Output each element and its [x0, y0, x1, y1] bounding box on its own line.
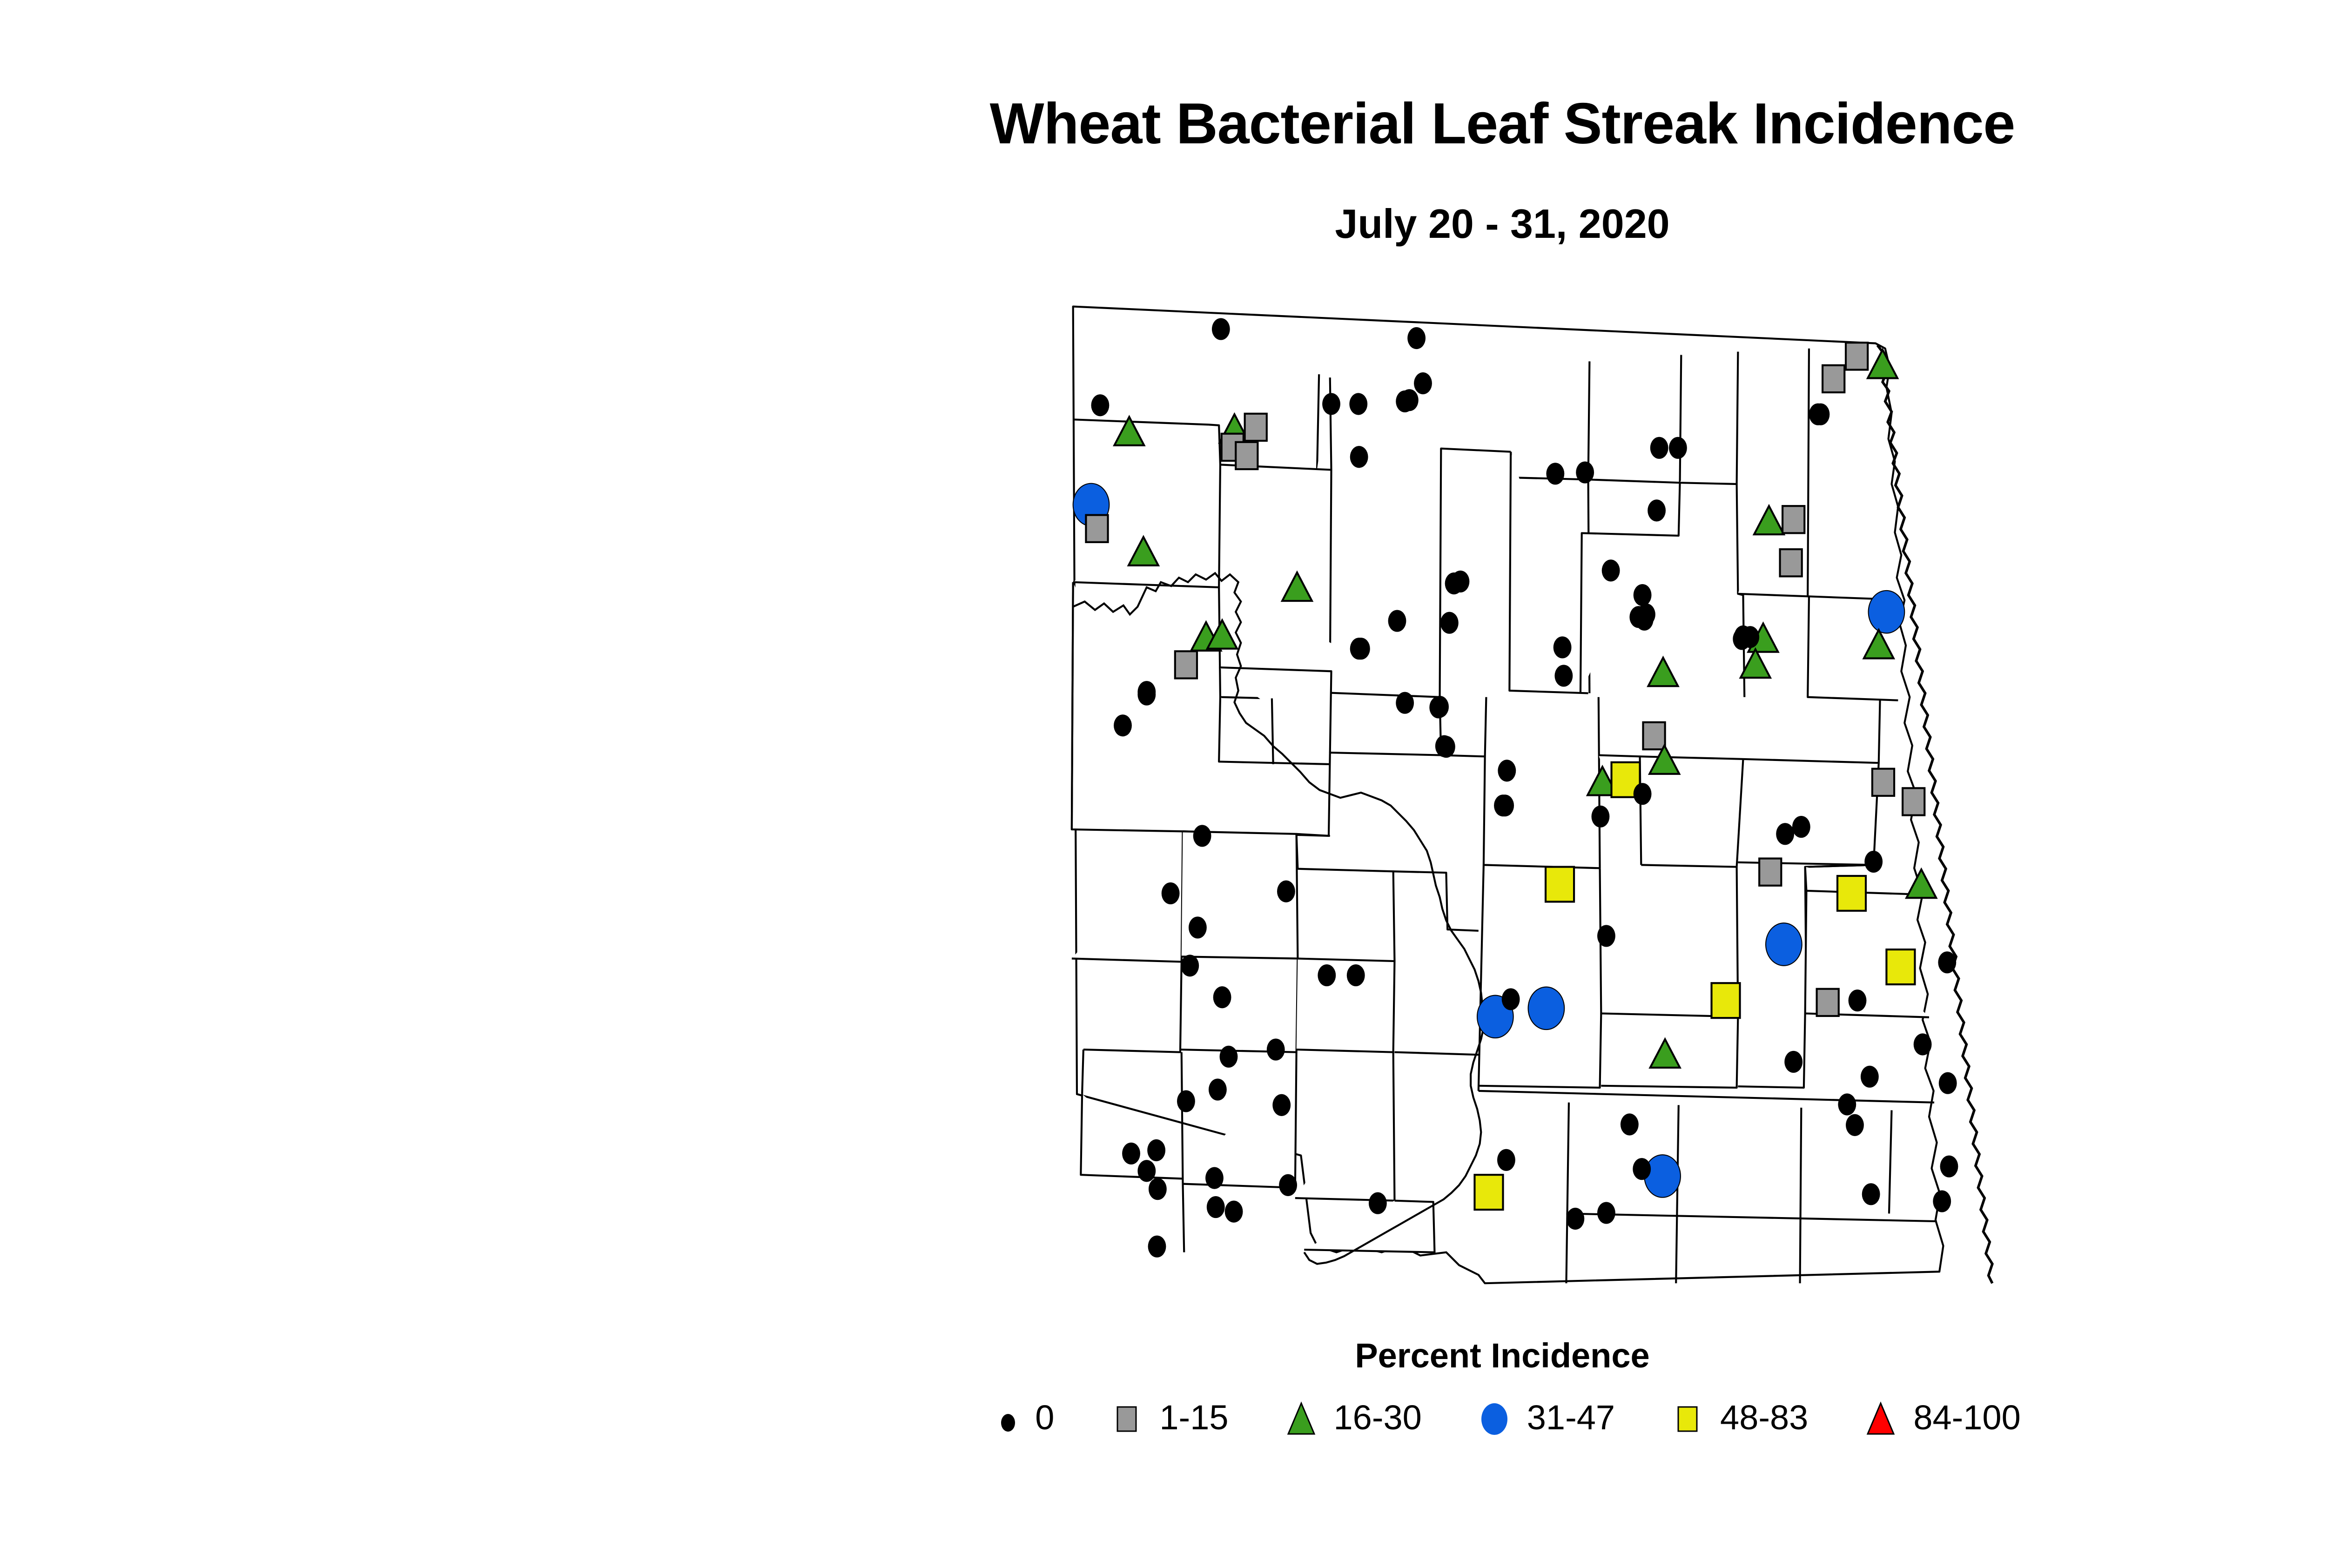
legend-circle-blue-icon-shape — [1481, 1403, 1507, 1435]
map-marker-0 — [1091, 394, 1110, 416]
map-marker-0 — [1602, 559, 1620, 581]
map-marker-0 — [1554, 665, 1573, 686]
map-marker-0 — [1633, 1158, 1651, 1180]
map-marker-0 — [1435, 735, 1453, 757]
map-marker-0 — [1272, 1094, 1291, 1116]
map-marker-0 — [1938, 951, 1956, 973]
legend-item-16-30[interactable]: 16-30 — [1283, 1396, 1422, 1439]
map-marker-48-83 — [1886, 949, 1915, 984]
page-subtitle: July 20 - 31, 2020 — [0, 200, 2327, 248]
map-marker-0 — [1597, 1202, 1615, 1224]
map-marker-0 — [1137, 1160, 1156, 1182]
map-marker-1-15 — [1872, 769, 1894, 796]
map-marker-0 — [1566, 1208, 1584, 1230]
map-marker-0 — [1177, 1090, 1195, 1112]
map-marker-0 — [1388, 610, 1406, 632]
map-marker-0 — [1205, 1167, 1224, 1189]
legend-item-84-100[interactable]: 84-100 — [1862, 1396, 2020, 1439]
map-marker-1-15 — [1846, 343, 1868, 370]
legend-dot-icon — [984, 1396, 1021, 1439]
map-marker-0 — [1181, 955, 1199, 976]
legend-item-1-15[interactable]: 1-15 — [1108, 1396, 1228, 1439]
map-marker-0 — [1350, 638, 1368, 660]
legend-label: 48-83 — [1720, 1398, 1808, 1437]
map-marker-31-47 — [1766, 923, 1802, 966]
map-marker-0 — [1933, 1190, 1951, 1212]
map-marker-0 — [1114, 714, 1132, 736]
legend-square-yellow-icon — [1669, 1396, 1706, 1439]
map-marker-0 — [1861, 1066, 1879, 1088]
legend-items: 01-1516-3031-4748-8384-100 — [0, 1396, 2327, 1439]
map-marker-0 — [1137, 684, 1156, 706]
map-marker-0 — [1650, 437, 1668, 459]
legend-triangle-red-icon-shape — [1868, 1403, 1894, 1434]
map-marker-0 — [1776, 823, 1794, 845]
map-marker-0 — [1792, 816, 1810, 838]
page-title: Wheat Bacterial Leaf Streak Incidence — [0, 91, 2327, 157]
map-marker-1-15 — [1817, 989, 1839, 1016]
map-marker-0 — [1318, 964, 1336, 986]
map-marker-1-15 — [1643, 722, 1665, 749]
map-marker-1-15 — [1782, 506, 1804, 533]
legend-label: 0 — [1035, 1398, 1054, 1437]
map-marker-0 — [1592, 806, 1610, 828]
map-marker-48-83 — [1712, 983, 1740, 1018]
map-marker-0 — [1846, 1114, 1864, 1136]
map-marker-48-83 — [1546, 867, 1574, 902]
map-marker-0 — [1213, 986, 1231, 1008]
legend-dot-icon-shape — [1001, 1414, 1015, 1432]
map-marker-1-15 — [1903, 788, 1924, 815]
map-marker-0 — [1147, 1139, 1165, 1161]
map-marker-1-15 — [1759, 859, 1781, 886]
map-marker-0 — [1576, 461, 1594, 483]
map-marker-0 — [1122, 1143, 1140, 1164]
map-marker-1-15 — [1245, 414, 1267, 441]
map-marker-0 — [1431, 696, 1449, 718]
map-marker-1-15 — [1823, 365, 1844, 392]
legend-square-gray-icon-shape — [1117, 1407, 1136, 1431]
map-marker-0 — [1502, 988, 1520, 1010]
map-marker-0 — [1193, 825, 1211, 847]
map-marker-48-83 — [1474, 1175, 1503, 1210]
map-marker-0 — [1440, 612, 1459, 634]
map-marker-0 — [1635, 609, 1654, 631]
north-dakota-county-map — [652, 284, 2327, 1285]
map-marker-31-47 — [1869, 591, 1905, 633]
map-marker-0 — [1634, 783, 1652, 805]
map-marker-0 — [1396, 390, 1414, 412]
map-marker-0 — [1350, 446, 1368, 468]
legend-triangle-green-icon — [1283, 1396, 1320, 1439]
map-marker-0 — [1838, 1093, 1856, 1115]
legend-item-0[interactable]: 0 — [984, 1396, 1054, 1439]
map-marker-48-83 — [1837, 876, 1866, 911]
map-marker-0 — [1207, 1196, 1225, 1218]
map-marker-0 — [1498, 760, 1516, 781]
map-marker-1-15 — [1175, 651, 1197, 678]
legend: Percent Incidence 01-1516-3031-4748-8384… — [0, 1336, 2327, 1439]
map-marker-0 — [1621, 1113, 1639, 1135]
map-marker-1-15 — [1086, 515, 1108, 542]
map-marker-0 — [1733, 628, 1751, 650]
map-marker-0 — [1914, 1033, 1932, 1055]
map-marker-0 — [1396, 692, 1414, 714]
map-marker-1-15 — [1236, 442, 1258, 469]
map-marker-0 — [1407, 327, 1426, 349]
map-marker-0 — [1812, 404, 1830, 425]
county-boundaries — [1072, 307, 1944, 1284]
map-marker-0 — [1784, 1051, 1802, 1073]
map-marker-0 — [1546, 463, 1564, 485]
legend-circle-blue-icon — [1476, 1396, 1513, 1439]
figure-root: Wheat Bacterial Leaf Streak Incidence Ju… — [0, 0, 2327, 1568]
legend-label: 16-30 — [1334, 1398, 1422, 1437]
map-marker-0 — [1369, 1192, 1387, 1214]
legend-label: 31-47 — [1527, 1398, 1615, 1437]
map-marker-0 — [1597, 925, 1615, 947]
map-marker-0 — [1209, 1079, 1227, 1101]
map-container — [652, 284, 2327, 1285]
map-marker-31-47 — [1528, 987, 1565, 1030]
map-marker-0 — [1148, 1236, 1166, 1258]
map-marker-0 — [1279, 1174, 1297, 1196]
map-marker-0 — [1494, 794, 1512, 816]
map-marker-1-15 — [1780, 549, 1802, 576]
map-marker-0 — [1940, 1156, 1958, 1178]
map-marker-0 — [1669, 437, 1687, 459]
legend-square-gray-icon — [1108, 1396, 1145, 1439]
map-marker-0 — [1939, 1072, 1957, 1094]
map-marker-0 — [1862, 1183, 1880, 1205]
map-marker-0 — [1267, 1039, 1285, 1061]
legend-triangle-green-icon-shape — [1288, 1403, 1314, 1434]
map-marker-0 — [1225, 1201, 1243, 1223]
map-marker-0 — [1864, 851, 1883, 873]
map-marker-0 — [1634, 584, 1652, 606]
map-marker-0 — [1162, 882, 1180, 904]
map-marker-0 — [1220, 1046, 1238, 1068]
map-marker-0 — [1322, 393, 1340, 415]
legend-item-48-83[interactable]: 48-83 — [1669, 1396, 1808, 1439]
map-marker-0 — [1849, 989, 1867, 1011]
legend-title: Percent Incidence — [0, 1336, 2327, 1375]
map-marker-0 — [1277, 881, 1295, 902]
map-marker-31-47 — [1644, 1155, 1681, 1198]
legend-triangle-red-icon — [1862, 1396, 1899, 1439]
map-marker-0 — [1347, 964, 1365, 986]
legend-label: 84-100 — [1913, 1398, 2020, 1437]
map-marker-0 — [1497, 1149, 1515, 1171]
map-marker-0 — [1149, 1178, 1167, 1200]
map-marker-0 — [1212, 318, 1230, 340]
legend-label: 1-15 — [1159, 1398, 1228, 1437]
legend-square-yellow-icon-shape — [1678, 1407, 1697, 1431]
map-marker-0 — [1445, 572, 1463, 594]
map-marker-0 — [1554, 636, 1572, 658]
map-marker-0 — [1648, 499, 1666, 521]
map-marker-0 — [1414, 372, 1432, 394]
legend-item-31-47[interactable]: 31-47 — [1476, 1396, 1615, 1439]
map-marker-0 — [1189, 916, 1207, 938]
map-marker-0 — [1349, 393, 1367, 415]
